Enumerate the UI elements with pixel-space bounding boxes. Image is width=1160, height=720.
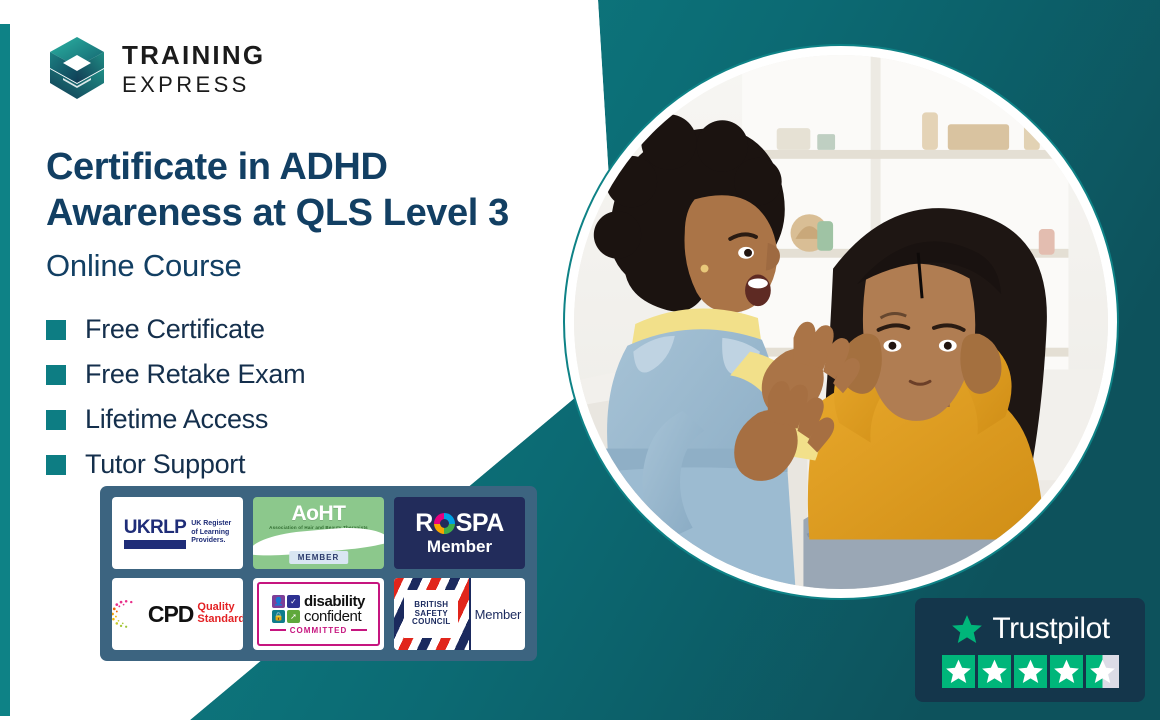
ukrlp-subtitle-line1: UK Register [191, 520, 231, 529]
ukrlp-title: UKRLP [124, 518, 186, 537]
disability-confident-icon-tiles: 👤 ✓ 🔒 ➚ [272, 595, 300, 623]
left-content: TRAINING EXPRESS Certificate in ADHD Awa… [46, 30, 566, 494]
person-arrow-icon: ➚ [287, 610, 300, 623]
training-express-hexagon-logo-icon [46, 35, 108, 103]
ukrlp-bar [124, 540, 186, 549]
ukrlp-subtitle-line2: of Learning [191, 529, 231, 538]
aoht-member-label: MEMBER [289, 551, 349, 564]
feature-label: Free Certificate [85, 314, 265, 345]
rating-star-3 [1014, 655, 1047, 688]
bullet-square-icon [46, 320, 66, 340]
lock-icon: 🔒 [272, 610, 285, 623]
rating-star-5-half [1086, 655, 1119, 688]
accreditation-badges-panel: UKRLP UK Register of Learning Providers.… [100, 486, 537, 661]
trustpilot-widget[interactable]: Trustpilot [915, 598, 1145, 702]
headline-line-2: Awareness at QLS Level 3 [46, 194, 566, 232]
bsc-member-label: Member [475, 608, 521, 621]
feature-label: Free Retake Exam [85, 359, 305, 390]
rating-star-2 [978, 655, 1011, 688]
rospa-title-left: R [415, 511, 433, 536]
bsc-line3: COUNCIL [412, 618, 451, 627]
disability-confident-status: COMMITTED [290, 626, 347, 635]
trustpilot-star-icon [950, 613, 984, 646]
aoht-title: AoHT [292, 503, 346, 524]
headline-line-1: Certificate in ADHD [46, 148, 566, 186]
badge-disability-confident: 👤 ✓ 🔒 ➚ disability confident COMMITTED [253, 578, 384, 650]
badge-rospa: R SPA Member [394, 497, 525, 569]
rospa-colour-wheel-icon [434, 513, 455, 534]
hero-photo-illustration [574, 55, 1108, 589]
rospa-member-label: Member [427, 538, 492, 555]
ukrlp-subtitle-line3: Providers. [191, 537, 231, 546]
subheadline: Online Course [46, 248, 566, 284]
brand-name-line1: TRAINING [122, 42, 265, 68]
feature-list: Free Certificate Free Retake Exam Lifeti… [46, 314, 566, 480]
list-item: Free Certificate [46, 314, 566, 345]
page-title: Certificate in ADHD Awareness at QLS Lev… [46, 148, 566, 232]
rospa-title-right: SPA [456, 511, 504, 536]
banner-canvas: TRAINING EXPRESS Certificate in ADHD Awa… [0, 0, 1160, 720]
hero-photo [574, 55, 1108, 589]
list-item: Tutor Support [46, 449, 566, 480]
feature-label: Tutor Support [85, 449, 245, 480]
bullet-square-icon [46, 410, 66, 430]
badge-british-safety-council: BRITISH SAFETY COUNCIL Member [394, 578, 525, 650]
people-icon: 👤 [272, 595, 285, 608]
cpd-title: CPD [148, 603, 194, 626]
bullet-square-icon [46, 365, 66, 385]
disability-confident-word1: disability [304, 594, 365, 609]
trustpilot-name: Trustpilot [992, 614, 1109, 644]
cpd-dotted-arc-icon [112, 597, 144, 631]
hero-photo-ring [563, 44, 1119, 600]
feature-label: Lifetime Access [85, 404, 268, 435]
tick-icon: ✓ [287, 595, 300, 608]
badge-cpd: CPD Quality Standards [112, 578, 243, 650]
badge-ukrlp: UKRLP UK Register of Learning Providers. [112, 497, 243, 569]
list-item: Free Retake Exam [46, 359, 566, 390]
disability-confident-word2: confident [304, 609, 365, 624]
brand-logo[interactable]: TRAINING EXPRESS [46, 30, 566, 108]
rating-star-1 [942, 655, 975, 688]
rating-star-4 [1050, 655, 1083, 688]
rule-right [351, 629, 367, 631]
list-item: Lifetime Access [46, 404, 566, 435]
trustpilot-rating-stars [942, 655, 1119, 688]
brand-name-line2: EXPRESS [122, 74, 265, 96]
left-accent-bar [0, 24, 10, 716]
rule-left [270, 629, 286, 631]
badge-aoht: AoHT Association of Hair and Beauty Ther… [253, 497, 384, 569]
trustpilot-brand: Trustpilot [950, 613, 1109, 646]
cpd-line2: Standards [197, 614, 243, 626]
bullet-square-icon [46, 455, 66, 475]
